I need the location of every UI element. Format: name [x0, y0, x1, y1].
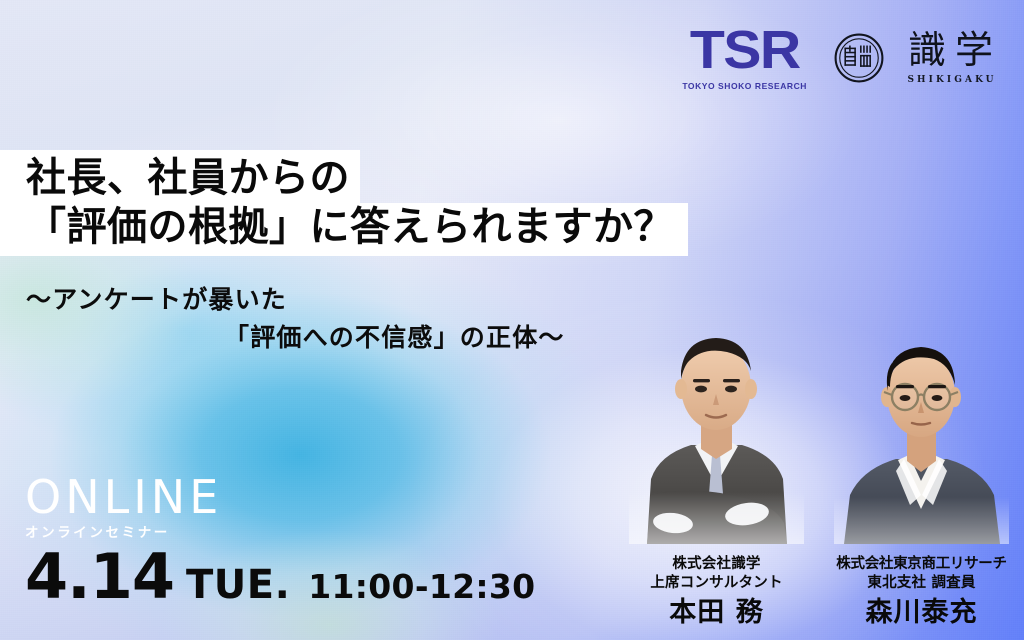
tsr-logo-mark: TSR: [690, 26, 800, 76]
speaker-card-2: 株式会社東京商工リサーチ 東北支社 調査員 森川泰充: [819, 555, 1024, 640]
event-date-row: 4.14 TUE. 11:00-12:30: [25, 546, 535, 608]
speaker-meta-1: 株式会社識学 上席コンサルタント 本田 務: [650, 555, 782, 640]
event-info-block: ONLINE オンラインセミナー 4.14 TUE. 11:00-12:30: [25, 474, 535, 609]
speaker-list: 株式会社識学 上席コンサルタント 本田 務: [614, 555, 1024, 640]
speaker-company-1: 株式会社識学: [650, 555, 782, 574]
event-format-jp: オンラインセミナー: [25, 527, 535, 541]
shikigaku-wordmark: 識学 SHIKIGAKU: [899, 31, 1002, 85]
speaker-title-2: 東北支社 調査員: [836, 574, 1006, 593]
speaker-card-1: 株式会社識学 上席コンサルタント 本田 務: [614, 555, 819, 640]
event-day-of-week: TUE.: [186, 565, 290, 605]
tsr-logo-icon: TSR TOKYO SHOKO RESEARCH: [682, 26, 807, 91]
shikigaku-roman: SHIKIGAKU: [904, 75, 996, 85]
speaker-name-2: 森川泰充: [836, 599, 1006, 626]
speaker-company-2: 株式会社東京商工リサーチ: [836, 555, 1006, 574]
shikigaku-kanji: 識学: [899, 31, 1002, 69]
speaker-meta-2: 株式会社東京商工リサーチ 東北支社 調査員 森川泰充: [836, 555, 1006, 640]
logo-bar: TSR TOKYO SHOKO RESEARCH: [682, 26, 1002, 91]
speaker-name-1: 本田 務: [650, 599, 782, 626]
shikigaku-logo: 識学 SHIKIGAKU: [833, 31, 1002, 85]
tsr-logo-tagline: TOKYO SHOKO RESEARCH: [682, 81, 807, 91]
shikigaku-seal-icon: [833, 32, 885, 84]
event-time: 11:00-12:30: [308, 570, 535, 603]
subtitle-line-1: 〜アンケートが暴いた: [0, 281, 660, 319]
subtitle: 〜アンケートが暴いた 「評価への不信感」の正体〜: [0, 281, 660, 357]
headline: 社長、社員からの 「評価の根拠」に答えられますか？: [0, 150, 688, 256]
speaker-title-1: 上席コンサルタント: [650, 574, 782, 593]
event-date: 4.14: [25, 546, 174, 608]
subtitle-line-2: 「評価への不信感」の正体〜: [0, 319, 660, 357]
headline-line-1: 社長、社員からの: [0, 150, 360, 203]
event-format-en: ONLINE: [25, 474, 535, 520]
seminar-banner: TSR TOKYO SHOKO RESEARCH: [0, 0, 1024, 640]
headline-line-2: 「評価の根拠」に答えられますか？: [0, 203, 688, 256]
